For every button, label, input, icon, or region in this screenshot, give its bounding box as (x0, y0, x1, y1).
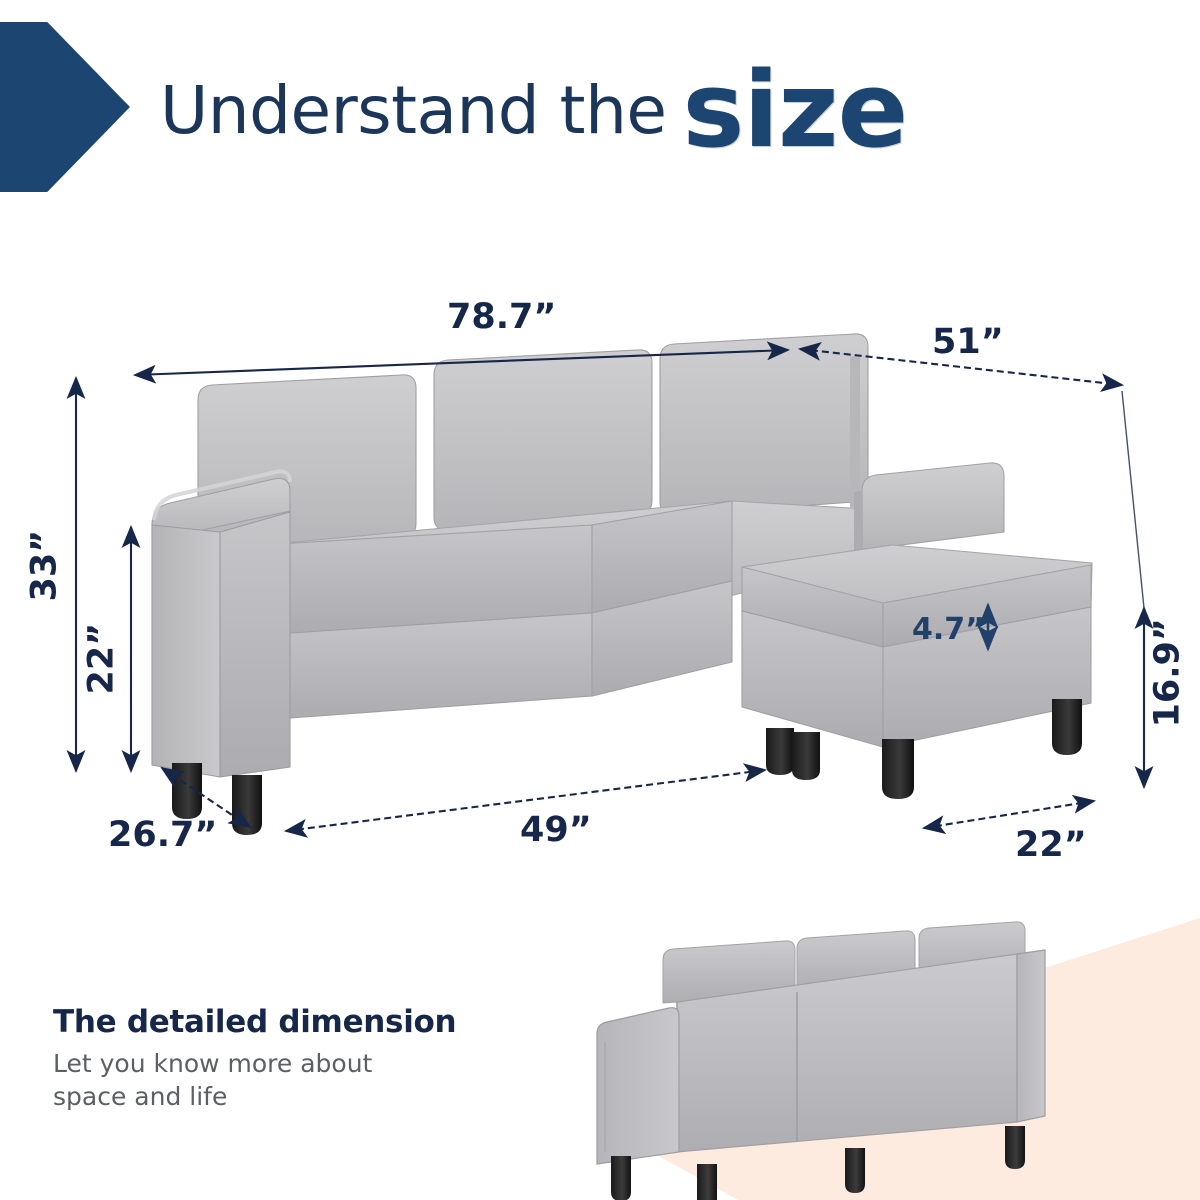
sofa-illustration (0, 215, 1200, 905)
dimension-label-overall-depth: 51” (932, 325, 1004, 360)
sofa-legs-back (766, 728, 820, 780)
page-title-bold: size (683, 64, 908, 158)
footer-heading: The detailed dimension (53, 1005, 473, 1041)
dimension-label-overall-width: 78.7” (447, 300, 556, 335)
sofa-rear-view-illustration (535, 918, 1155, 1200)
dimension-label-overall-height: 33” (28, 538, 63, 602)
footer-text-block: The detailed dimension Let you know more… (53, 1005, 473, 1113)
dimension-label-chaise-width: 22” (1015, 828, 1087, 863)
footer-section: The detailed dimension Let you know more… (0, 900, 1200, 1200)
page-title-light: Understand the (160, 78, 667, 144)
dimension-label-cushion-thickness: 4.7” (912, 615, 985, 645)
footer-subtext-line1: Let you know more about (53, 1047, 473, 1080)
infographic-page: Understand the size (0, 0, 1200, 1200)
chevron-right-icon (0, 22, 130, 192)
footer-subtext: Let you know more about space and life (53, 1047, 473, 1113)
header-band: Understand the size (0, 0, 1200, 215)
dimension-diagram: 78.7” 51” 33” 22” 26.7” 49” 4.7” 16.9” 2… (0, 215, 1200, 905)
dimension-label-seat-width: 49” (520, 813, 592, 848)
dimension-label-seat-back-height: 22” (85, 631, 120, 695)
footer-subtext-line2: space and life (53, 1080, 473, 1113)
dimension-label-arm-depth: 26.7” (108, 818, 217, 853)
dimension-label-chaise-height: 16.9” (1151, 648, 1186, 728)
page-title: Understand the size (160, 46, 1060, 176)
